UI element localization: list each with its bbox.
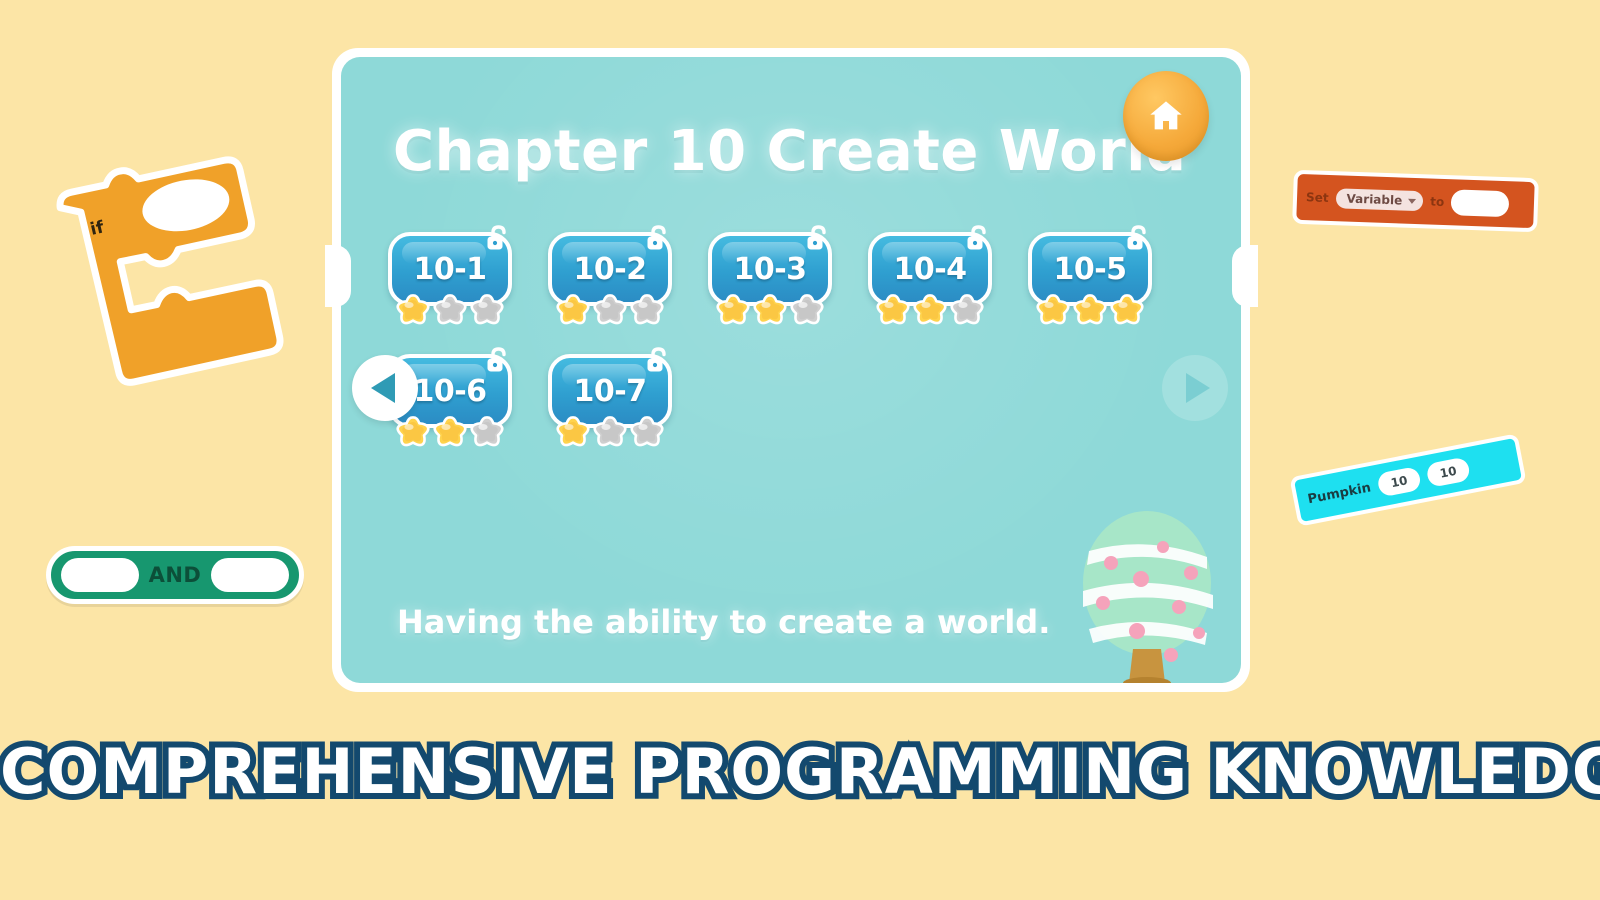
chevron-down-icon <box>1408 198 1416 203</box>
star-filled-icon <box>555 414 591 448</box>
unlocked-padlock-icon <box>484 224 512 254</box>
level-tile-10-4[interactable]: 10-4 <box>865 232 995 326</box>
next-page-button[interactable] <box>1162 355 1228 421</box>
unlocked-padlock-icon <box>804 224 832 254</box>
star-filled-icon <box>1109 292 1145 326</box>
set-block-prefix-label: Set <box>1306 190 1329 205</box>
unlocked-padlock-icon <box>484 346 512 376</box>
star-empty-icon <box>789 292 825 326</box>
star-empty-icon <box>432 292 468 326</box>
level-stars-10-3 <box>715 292 825 326</box>
level-label: 10-1 <box>413 252 486 287</box>
panel-notch-left <box>325 245 351 307</box>
star-empty-icon <box>592 292 628 326</box>
panel-notch-right <box>1232 245 1258 307</box>
star-filled-icon <box>1072 292 1108 326</box>
level-stars-10-5 <box>1035 292 1145 326</box>
star-filled-icon <box>555 292 591 326</box>
star-filled-icon <box>395 414 431 448</box>
star-empty-icon <box>469 292 505 326</box>
level-label: 10-2 <box>573 252 646 287</box>
decoration-and-block: AND <box>46 546 304 604</box>
star-filled-icon <box>395 292 431 326</box>
set-block-dropdown-value: Variable <box>1346 192 1402 208</box>
set-block-value-slot <box>1451 189 1510 217</box>
level-label: 10-7 <box>573 374 646 409</box>
level-tile-10-1[interactable]: 10-1 <box>385 232 515 326</box>
pumpkin-block-label: Pumpkin <box>1306 480 1372 507</box>
unlocked-padlock-icon <box>964 224 992 254</box>
if-block-shape: if <box>46 128 290 402</box>
level-stars-10-4 <box>875 292 985 326</box>
star-filled-icon <box>715 292 751 326</box>
level-tile-10-3[interactable]: 10-3 <box>705 232 835 326</box>
set-block-dropdown: Variable <box>1335 188 1423 211</box>
level-stars-10-1 <box>395 292 505 326</box>
level-tile-10-2[interactable]: 10-2 <box>545 232 675 326</box>
star-filled-icon <box>432 414 468 448</box>
prev-page-button[interactable] <box>352 355 418 421</box>
chevron-right-icon <box>1186 373 1210 403</box>
home-button[interactable] <box>1123 71 1209 161</box>
star-empty-icon <box>949 292 985 326</box>
unlocked-padlock-icon <box>644 224 672 254</box>
chapter-panel: Chapter 10 Create World <box>332 48 1250 692</box>
star-empty-icon <box>629 414 665 448</box>
unlocked-padlock-icon <box>1124 224 1152 254</box>
set-block-connector-label: to <box>1430 195 1444 209</box>
decoration-set-variable-block: Set Variable to <box>1292 170 1539 233</box>
level-stars-10-6 <box>395 414 505 448</box>
star-filled-icon <box>1035 292 1071 326</box>
and-block-right-slot <box>211 558 289 592</box>
pumpkin-block-field-one: 10 <box>1376 466 1422 498</box>
and-block-label: AND <box>149 563 202 587</box>
decoration-if-block: if <box>46 128 290 402</box>
level-label: 10-6 <box>413 374 486 409</box>
star-filled-icon <box>875 292 911 326</box>
and-block-left-slot <box>61 558 139 592</box>
tree-icon <box>1067 507 1227 683</box>
level-stars-10-7 <box>555 414 665 448</box>
level-label: 10-5 <box>1053 252 1126 287</box>
levels-grid: 10-110-210-310-410-510-610-7 <box>385 232 1185 448</box>
level-label: 10-3 <box>733 252 806 287</box>
level-stars-10-2 <box>555 292 665 326</box>
star-filled-icon <box>912 292 948 326</box>
unlocked-padlock-icon <box>644 346 672 376</box>
star-filled-icon <box>752 292 788 326</box>
chapter-panel-inner: Chapter 10 Create World <box>341 57 1241 683</box>
star-empty-icon <box>469 414 505 448</box>
panel-caption: Having the ability to create a world. <box>397 603 1050 641</box>
bottom-banner: COMPREHENSIVE PROGRAMMING KNOWLEDGE <box>0 735 1600 808</box>
level-tile-10-5[interactable]: 10-5 <box>1025 232 1155 326</box>
level-label: 10-4 <box>893 252 966 287</box>
level-tile-10-7[interactable]: 10-7 <box>545 354 675 448</box>
star-empty-icon <box>629 292 665 326</box>
decoration-pumpkin-block: Pumpkin 10 10 <box>1289 433 1526 526</box>
star-empty-icon <box>592 414 628 448</box>
home-icon <box>1146 96 1186 136</box>
pumpkin-block-field-two: 10 <box>1425 456 1471 488</box>
chevron-left-icon <box>371 373 395 403</box>
page-title: Chapter 10 Create World <box>393 119 1187 184</box>
